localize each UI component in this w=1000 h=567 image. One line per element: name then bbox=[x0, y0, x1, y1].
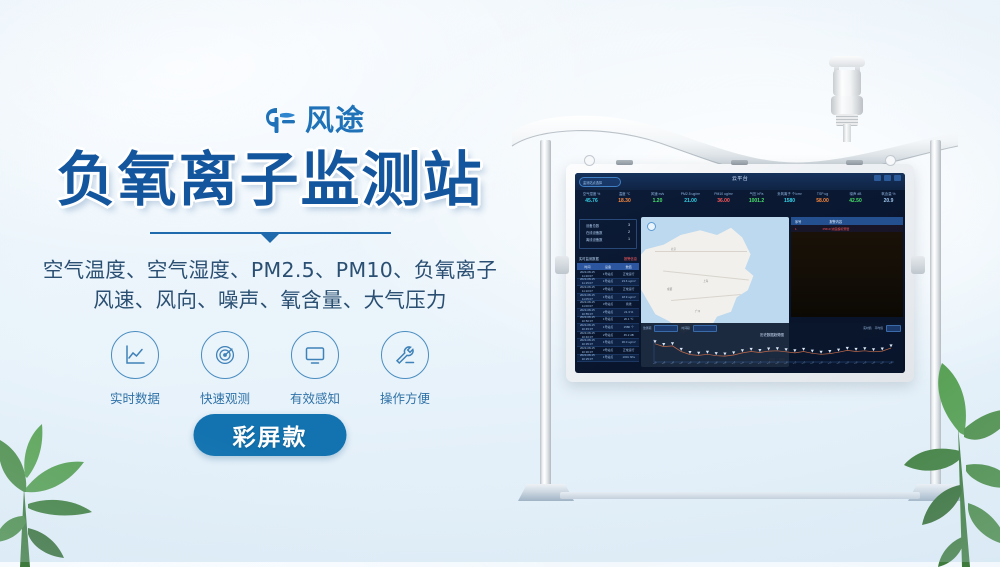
feature-item-fast-observation[interactable]: 快速观测 bbox=[197, 331, 254, 407]
data-point-marker bbox=[785, 348, 788, 351]
frame-tab bbox=[616, 160, 633, 165]
data-point-marker bbox=[872, 348, 875, 351]
data-point-marker bbox=[750, 348, 753, 351]
column-header: 时间 bbox=[577, 264, 598, 269]
frame-arm-right bbox=[911, 256, 925, 274]
subtitle-line-1: 空气温度、空气湿度、PM2.5、PM10、负氧离子 bbox=[0, 256, 540, 286]
table-cell: 1001 hPa bbox=[618, 355, 639, 359]
metric-card[interactable]: 温度 ℃18.30 bbox=[608, 190, 641, 215]
table-cell: 3号站点 bbox=[598, 302, 619, 306]
table-cell: 正常运行 bbox=[618, 272, 639, 276]
fullscreen-icon[interactable] bbox=[894, 175, 901, 181]
data-point-marker bbox=[741, 349, 744, 352]
data-point-marker bbox=[697, 352, 700, 355]
dashboard-screen[interactable]: 云平台 监测站点选择 空气湿度 %45.76温度 ℃18.30风速 m/s1.2… bbox=[575, 173, 905, 373]
table-cell: 1号站点 bbox=[598, 340, 619, 344]
stat-label: 设备总数 bbox=[586, 223, 599, 228]
dashboard-body: 设备总数3在线设备数2离线设备数1 实时监测数据 报警信息 时间设备数值 202… bbox=[575, 217, 905, 373]
data-point-marker bbox=[819, 351, 822, 354]
chart-export-button[interactable] bbox=[886, 325, 901, 332]
brand-name: 风途 bbox=[305, 106, 365, 135]
frame-tab bbox=[731, 160, 748, 165]
title-divider bbox=[0, 232, 540, 243]
metric-value: 36.00 bbox=[707, 197, 740, 205]
feature-item-effective-sensing[interactable]: 有效感知 bbox=[287, 331, 344, 407]
divider-triangle-icon bbox=[261, 234, 279, 243]
data-point-marker bbox=[811, 350, 814, 353]
table-cell: 1号站点 bbox=[598, 355, 619, 359]
station-selector[interactable]: 监测站点选择 bbox=[579, 177, 621, 187]
table-cell: 2号站点 bbox=[598, 287, 619, 291]
alert-text: PM10 浓度超标预警 bbox=[823, 227, 850, 231]
table-cell: 离线 bbox=[618, 302, 639, 306]
display-frame: 云平台 监测站点选择 空气湿度 %45.76温度 ℃18.30风速 m/s1.2… bbox=[566, 164, 914, 382]
cta-button[interactable]: 彩屏款 bbox=[194, 414, 347, 456]
data-point-marker bbox=[854, 348, 857, 351]
data-point-marker bbox=[715, 352, 718, 355]
stat-label: 离线设备数 bbox=[586, 237, 602, 242]
decorative-plant-right bbox=[900, 355, 1000, 567]
table-header-bar: 实时监测数据 报警信息 bbox=[577, 255, 639, 262]
chart-metric-select[interactable] bbox=[654, 325, 678, 332]
metric-value: 1580 bbox=[773, 197, 806, 205]
metric-value: 18.30 bbox=[608, 197, 641, 205]
chart-filter-bar: 监测项 时间段 实时值 平均值 bbox=[643, 324, 901, 332]
data-point-marker bbox=[732, 351, 735, 354]
metric-card-row: 空气湿度 %45.76温度 ℃18.30风速 m/s1.20PM2.5 ug/m… bbox=[575, 190, 905, 215]
table-cell: 2号站点 bbox=[598, 310, 619, 314]
data-point-marker bbox=[802, 348, 805, 351]
support-post-left bbox=[540, 140, 551, 488]
stat-label: 在线设备数 bbox=[586, 230, 602, 235]
chart-range-label: 时间段 bbox=[681, 326, 689, 330]
metric-card[interactable]: 风速 m/s1.20 bbox=[641, 190, 674, 215]
table-cell: 45.2 dB bbox=[618, 333, 639, 337]
table-cell: 3号站点 bbox=[598, 348, 619, 352]
table-cell: 1号站点 bbox=[598, 325, 619, 329]
table-cell: 正常运行 bbox=[618, 348, 639, 352]
feature-label: 操作方便 bbox=[380, 388, 430, 407]
feature-label: 有效感知 bbox=[290, 388, 340, 407]
line-chart-icon bbox=[111, 331, 159, 379]
table-cell: 23.6 ug/m³ bbox=[618, 279, 639, 283]
alert-table-header: 序号 报警内容 bbox=[791, 217, 903, 225]
camera-feed[interactable] bbox=[791, 232, 903, 317]
table-cell: 21.3 % bbox=[618, 310, 639, 314]
brand-logo: 风途 bbox=[258, 103, 365, 137]
stat-row: 设备总数3 bbox=[580, 222, 636, 229]
data-point-marker bbox=[837, 349, 840, 352]
metric-card[interactable]: 负氧离子 个/cm³1580 bbox=[773, 190, 806, 215]
cta-label: 彩屏款 bbox=[233, 418, 308, 452]
stat-value: 3 bbox=[628, 223, 630, 228]
settings-icon[interactable] bbox=[884, 175, 891, 181]
stat-row: 在线设备数2 bbox=[580, 229, 636, 236]
stat-value: 1 bbox=[628, 237, 630, 242]
table-cell: 2号站点 bbox=[598, 333, 619, 337]
ground-rail bbox=[560, 492, 920, 499]
table-cell: 正常运行 bbox=[618, 287, 639, 291]
chart-filter-label: 监测项 bbox=[643, 326, 651, 330]
metric-card[interactable]: TSP ug58.00 bbox=[806, 190, 839, 215]
data-point-marker bbox=[758, 349, 761, 352]
cloud-leaf-logo-icon bbox=[258, 103, 298, 137]
trend-chart-panel: 监测项 时间段 实时值 平均值 历史数据趋势图 08-0108-0208-030… bbox=[641, 323, 903, 373]
table-cell: 1号站点 bbox=[598, 317, 619, 321]
alert-col-content: 报警内容 bbox=[829, 219, 842, 224]
metric-card[interactable]: 气压 hPa1001.2 bbox=[740, 190, 773, 215]
frame-arm-left bbox=[555, 256, 569, 274]
data-point-marker bbox=[776, 347, 779, 350]
data-point-marker bbox=[688, 351, 691, 354]
data-point-marker bbox=[662, 343, 665, 346]
dashboard-title: 云平台 bbox=[575, 175, 905, 182]
metric-card[interactable]: PM2.5 ug/m³21.00 bbox=[674, 190, 707, 215]
decorative-plant-left bbox=[0, 392, 144, 567]
table-cell: 18.9 ug/m³ bbox=[618, 295, 639, 299]
device-stats-box: 设备总数3在线设备数2离线设备数1 bbox=[579, 219, 637, 249]
map-label: 成都 bbox=[667, 287, 672, 291]
table-cell: 1号站点 bbox=[598, 279, 619, 283]
data-point-marker bbox=[706, 351, 709, 354]
trend-line-plot: 08-0108-0208-0308-0408-0508-0608-0708-08… bbox=[651, 338, 897, 364]
chart-legend-average: 平均值 bbox=[875, 326, 883, 330]
feature-subtitle: 空气温度、空气湿度、PM2.5、PM10、负氧离子 风速、风向、噪声、氧含量、大… bbox=[0, 256, 540, 315]
metric-value: 20.9 bbox=[872, 197, 905, 205]
data-point-marker bbox=[723, 352, 726, 355]
alert-row[interactable]: 1 PM10 浓度超标预警 bbox=[791, 225, 903, 232]
metric-value: 21.00 bbox=[674, 197, 707, 205]
monitor-icon bbox=[291, 331, 339, 379]
metric-value: 42.50 bbox=[839, 197, 872, 205]
metric-value: 58.00 bbox=[806, 197, 839, 205]
alert-index: 1 bbox=[795, 227, 797, 231]
data-point-marker bbox=[671, 342, 674, 345]
subtitle-line-2: 风速、风向、噪声、氧含量、大气压力 bbox=[0, 286, 540, 316]
chart-range-select[interactable] bbox=[693, 325, 717, 332]
data-point-marker bbox=[767, 348, 770, 351]
data-point-marker bbox=[793, 349, 796, 352]
table-cell: 2023-08-15 10:25:07 bbox=[577, 353, 598, 361]
frame-mount-ring-right bbox=[885, 155, 896, 166]
radar-scan-icon bbox=[201, 331, 249, 379]
metric-card[interactable]: 氧含量 %20.9 bbox=[872, 190, 905, 215]
data-point-marker bbox=[863, 347, 866, 350]
dashboard-toolbar bbox=[874, 175, 901, 181]
table-cell: 1号站点 bbox=[598, 295, 619, 299]
stat-value: 2 bbox=[628, 230, 630, 235]
table-cell: 20.1 ℃ bbox=[618, 317, 639, 321]
chart-legend-realtime: 实时值 bbox=[863, 326, 871, 330]
left-panel: 设备总数3在线设备数2离线设备数1 实时监测数据 报警信息 时间设备数值 202… bbox=[577, 217, 639, 367]
column-header: 数值 bbox=[618, 264, 639, 269]
alert-label: 报警信息 bbox=[624, 256, 637, 261]
chart-title: 历史数据趋势图 bbox=[641, 332, 903, 337]
metric-value: 1.20 bbox=[641, 197, 674, 205]
station-selector-label: 监测站点选择 bbox=[583, 180, 602, 185]
metric-value: 1001.2 bbox=[740, 197, 773, 205]
dashboard-header: 云平台 监测站点选择 bbox=[575, 173, 905, 190]
frame-tab bbox=[846, 160, 863, 165]
feature-item-easy-operation[interactable]: 操作方便 bbox=[377, 331, 434, 407]
map-label: 北京 bbox=[671, 247, 676, 251]
layers-icon[interactable] bbox=[874, 175, 881, 181]
map-label: 广州 bbox=[695, 309, 700, 313]
table-cell: 1580 个 bbox=[618, 325, 639, 329]
metric-card[interactable]: PM10 ug/m³36.00 bbox=[707, 190, 740, 215]
poster-canvas: 风途 负氧离子监测站 空气温度、空气湿度、PM2.5、PM10、负氧离子 风速、… bbox=[0, 0, 1000, 562]
map-marker-icon[interactable] bbox=[647, 222, 656, 231]
metric-card[interactable]: 噪声 dB42.50 bbox=[839, 190, 872, 215]
metric-value: 45.76 bbox=[575, 197, 608, 205]
data-point-marker bbox=[889, 344, 892, 347]
map-label: 上海 bbox=[703, 279, 708, 283]
table-cell: 1号站点 bbox=[598, 272, 619, 276]
table-title: 实时监测数据 bbox=[579, 256, 599, 261]
metric-card[interactable]: 空气湿度 %45.76 bbox=[575, 190, 608, 215]
table-row[interactable]: 2023-08-15 10:25:071号站点1001 hPa bbox=[577, 354, 639, 363]
page-title: 负氧离子监测站 bbox=[0, 150, 540, 209]
alert-col-index: 序号 bbox=[795, 219, 801, 224]
frame-mount-ring-left bbox=[584, 155, 595, 166]
data-point-marker bbox=[846, 347, 849, 350]
table-cell: 36.0 ug/m³ bbox=[618, 340, 639, 344]
data-point-marker bbox=[828, 350, 831, 353]
feature-label: 快速观测 bbox=[200, 388, 250, 407]
stat-row: 离线设备数1 bbox=[580, 236, 636, 243]
data-point-marker bbox=[881, 348, 884, 351]
wrench-icon bbox=[381, 331, 429, 379]
column-header: 设备 bbox=[598, 264, 619, 269]
